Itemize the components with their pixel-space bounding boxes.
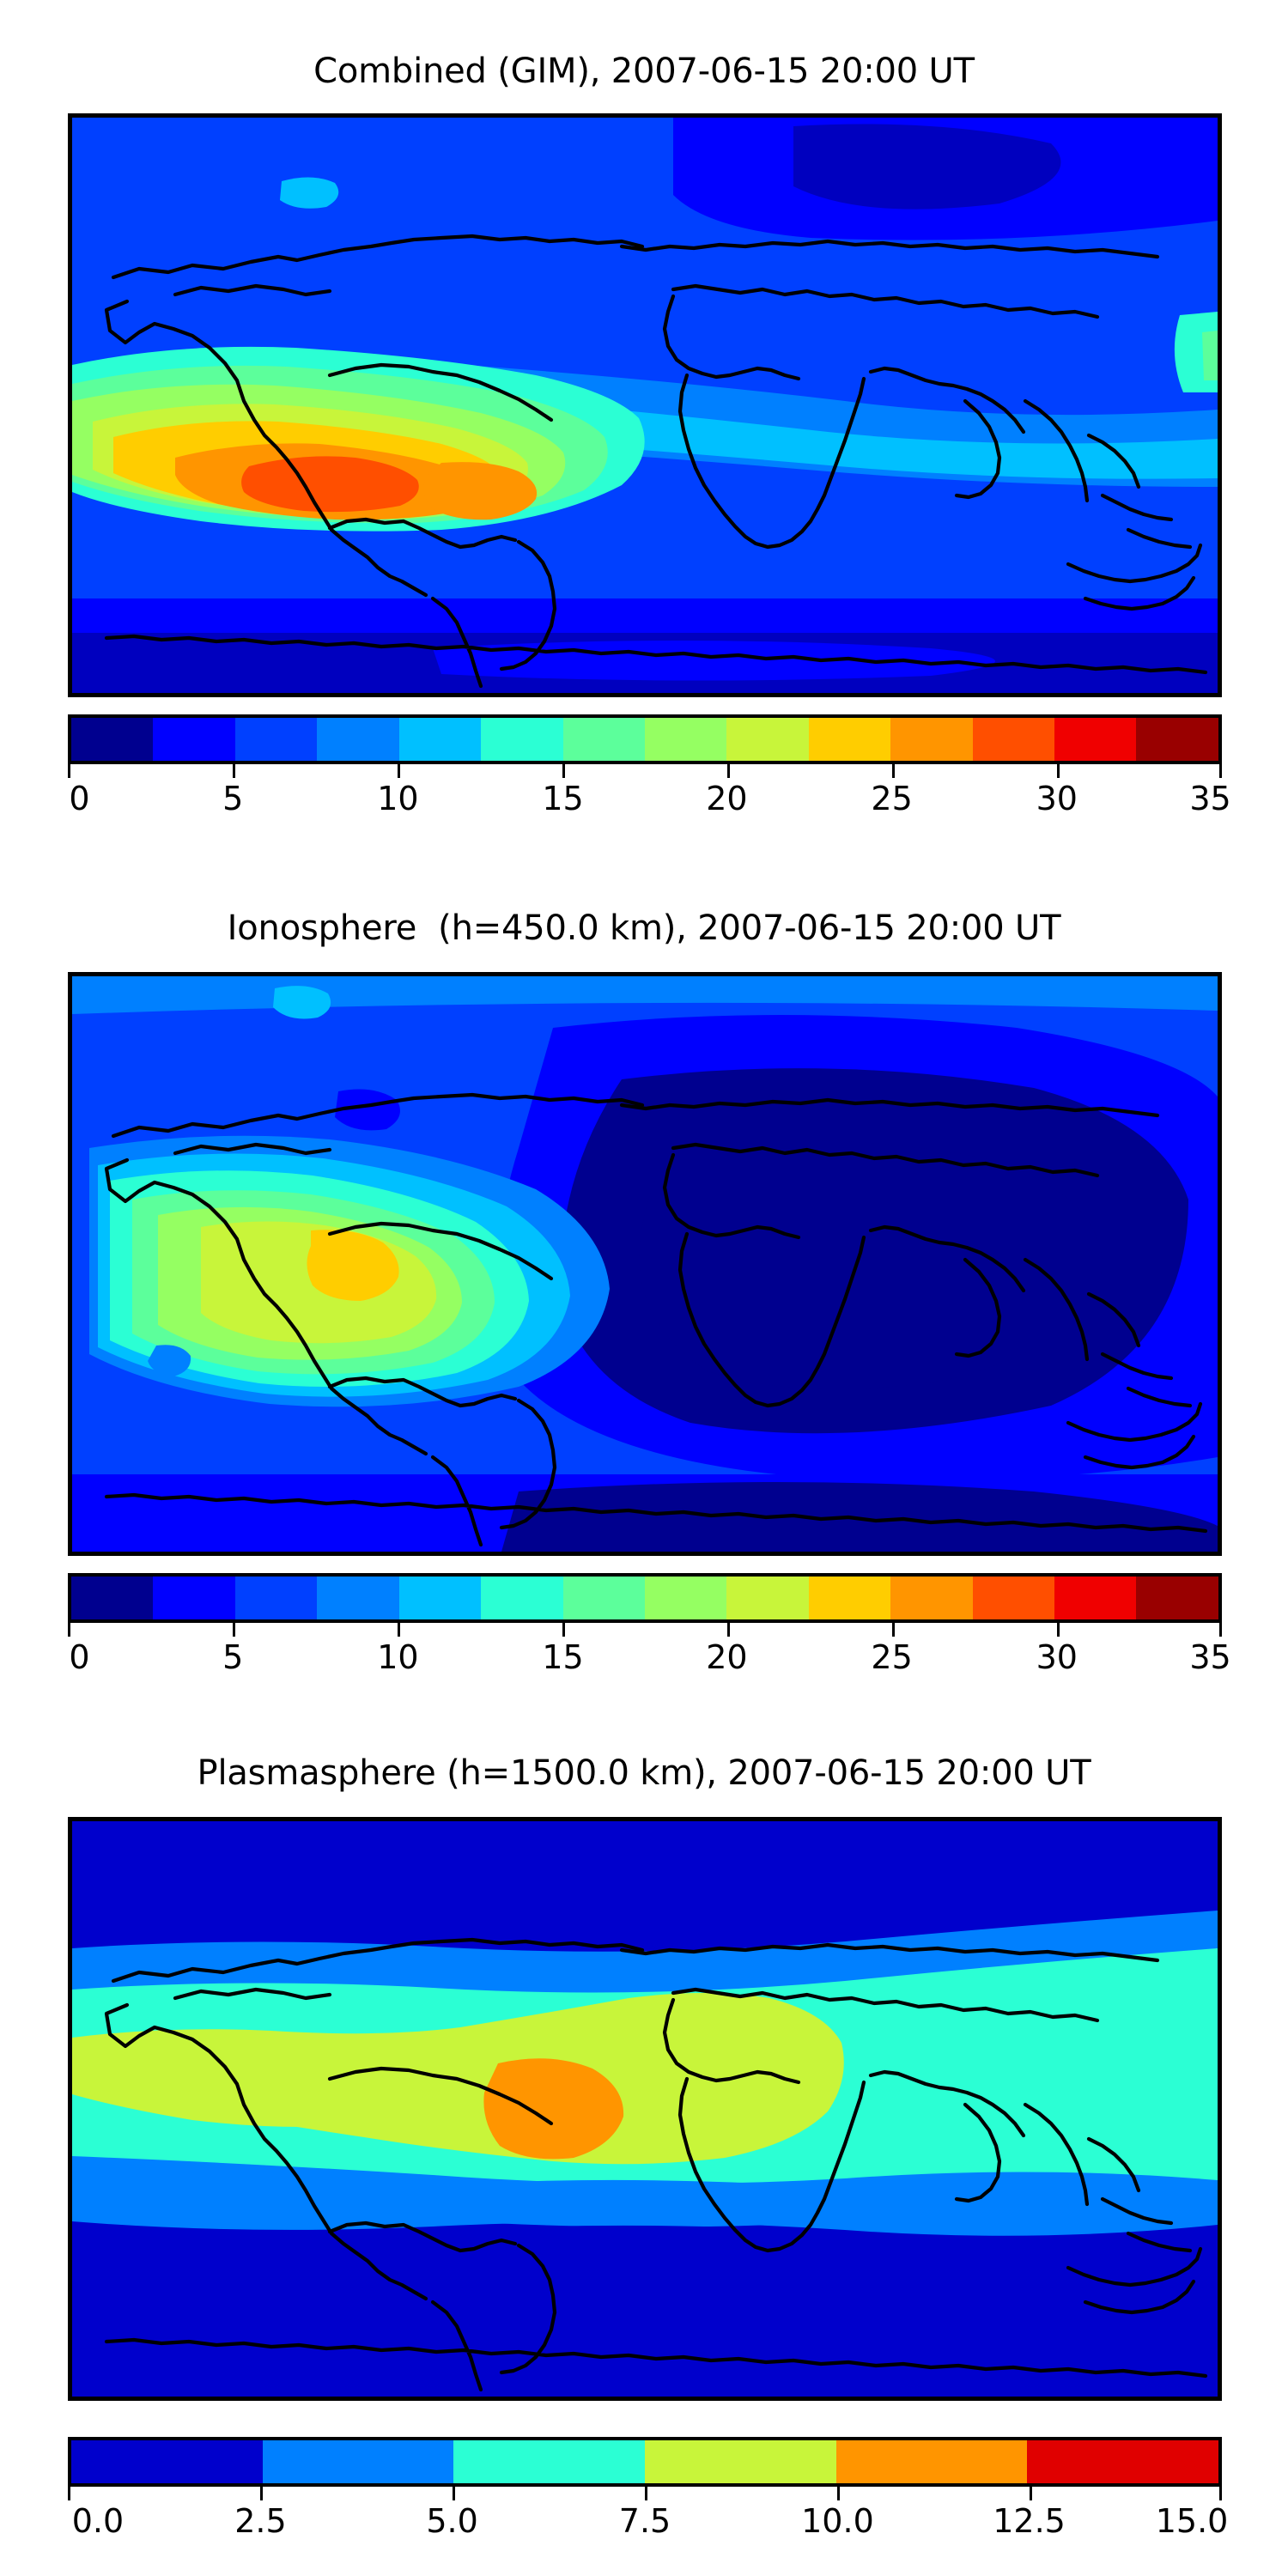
cbar1-tick-30: 30 xyxy=(1036,780,1078,817)
map-contour-plasmasphere xyxy=(72,1821,1218,2397)
cbar2-tick-35: 35 xyxy=(1189,1638,1230,1676)
colorbar-plasmasphere-labels: 0.0 2.5 5.0 7.5 10.0 12.5 15.0 xyxy=(68,2500,1222,2540)
cbar3-tick-0: 0.0 xyxy=(72,2502,124,2540)
map-panel-plasmasphere xyxy=(68,1817,1222,2401)
colorbar-combined-ticks xyxy=(68,764,1222,778)
cbar1-tick-25: 25 xyxy=(871,780,912,817)
cbar3-tick-10: 10.0 xyxy=(801,2502,874,2540)
colorbar-combined-bands xyxy=(68,714,1222,764)
cbar3-tick-5: 5.0 xyxy=(426,2502,477,2540)
colorbar-combined-labels: 0 5 10 15 20 25 30 35 xyxy=(68,778,1222,817)
cbar2-tick-10: 10 xyxy=(377,1638,418,1676)
cbar1-tick-5: 5 xyxy=(222,780,243,817)
map-panel-ionosphere xyxy=(68,972,1222,1556)
map-panel-combined xyxy=(68,113,1222,697)
cbar2-tick-15: 15 xyxy=(542,1638,583,1676)
cbar3-tick-15: 15.0 xyxy=(1156,2502,1229,2540)
cbar2-tick-25: 25 xyxy=(871,1638,912,1676)
cbar2-tick-20: 20 xyxy=(706,1638,747,1676)
colorbar-combined: 0 5 10 15 20 25 30 35 xyxy=(68,714,1222,817)
cbar3-tick-12p5: 12.5 xyxy=(993,2502,1066,2540)
cbar2-tick-30: 30 xyxy=(1036,1638,1078,1676)
colorbar-ionosphere-ticks xyxy=(68,1623,1222,1637)
cbar1-tick-0: 0 xyxy=(69,780,89,817)
colorbar-ionosphere-bands xyxy=(68,1573,1222,1623)
cbar1-tick-15: 15 xyxy=(542,780,583,817)
cbar1-tick-20: 20 xyxy=(706,780,747,817)
panel-title-combined: Combined (GIM), 2007-06-15 20:00 UT xyxy=(0,52,1288,91)
cbar1-tick-35: 35 xyxy=(1189,780,1230,817)
cbar2-tick-0: 0 xyxy=(69,1638,89,1676)
cbar3-tick-7p5: 7.5 xyxy=(619,2502,671,2540)
map-contour-ionosphere xyxy=(72,976,1218,1552)
colorbar-plasmasphere-bands xyxy=(68,2437,1222,2487)
figure-canvas: Combined (GIM), 2007-06-15 20:00 UT xyxy=(0,0,1288,2576)
map-contour-combined xyxy=(72,118,1218,693)
cbar3-tick-2p5: 2.5 xyxy=(234,2502,286,2540)
colorbar-plasmasphere-ticks xyxy=(68,2487,1222,2500)
colorbar-ionosphere: 0 5 10 15 20 25 30 35 xyxy=(68,1573,1222,1676)
colorbar-ionosphere-labels: 0 5 10 15 20 25 30 35 xyxy=(68,1637,1222,1676)
cbar1-tick-10: 10 xyxy=(377,780,418,817)
panel-title-ionosphere: Ionosphere (h=450.0 km), 2007-06-15 20:0… xyxy=(0,908,1288,948)
colorbar-plasmasphere: 0.0 2.5 5.0 7.5 10.0 12.5 15.0 xyxy=(68,2437,1222,2540)
panel-title-plasmasphere: Plasmasphere (h=1500.0 km), 2007-06-15 2… xyxy=(0,1753,1288,1793)
cbar2-tick-5: 5 xyxy=(222,1638,243,1676)
